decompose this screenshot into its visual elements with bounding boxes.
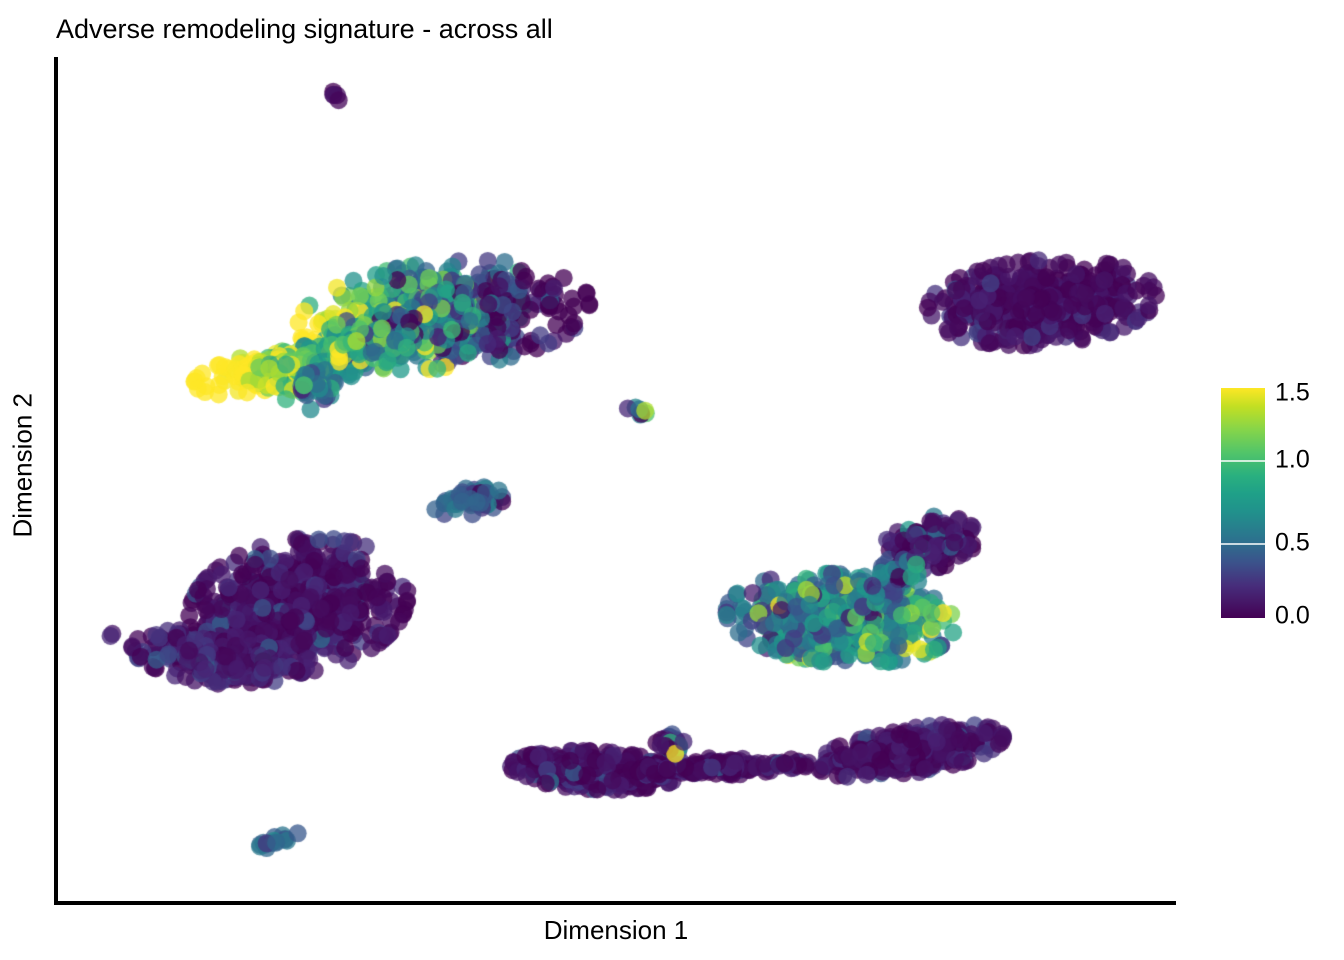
scatter-plot-canvas	[58, 58, 1176, 901]
y-axis-label: Dimension 2	[8, 418, 39, 538]
y-axis-line	[54, 57, 58, 905]
legend-label-0-5: 0.5	[1275, 529, 1310, 558]
legend-label-1-5: 1.5	[1275, 379, 1310, 408]
x-axis-line	[54, 901, 1176, 905]
x-axis-label: Dimension 1	[56, 915, 1176, 946]
color-legend: 1.5 1.0 0.5 0.0	[1221, 388, 1265, 618]
legend-colorbar-gradient	[1221, 388, 1265, 618]
legend-label-1-0: 1.0	[1275, 446, 1310, 475]
legend-tick-0-5	[1221, 543, 1265, 545]
page-title: Adverse remodeling signature - across al…	[56, 14, 553, 45]
legend-tick-1-0	[1221, 460, 1265, 462]
legend-tick-0-0	[1221, 616, 1265, 618]
legend-tick-1-5	[1221, 388, 1265, 390]
umap-scatter-figure: Adverse remodeling signature - across al…	[0, 0, 1344, 960]
legend-label-0-0: 0.0	[1275, 602, 1310, 631]
